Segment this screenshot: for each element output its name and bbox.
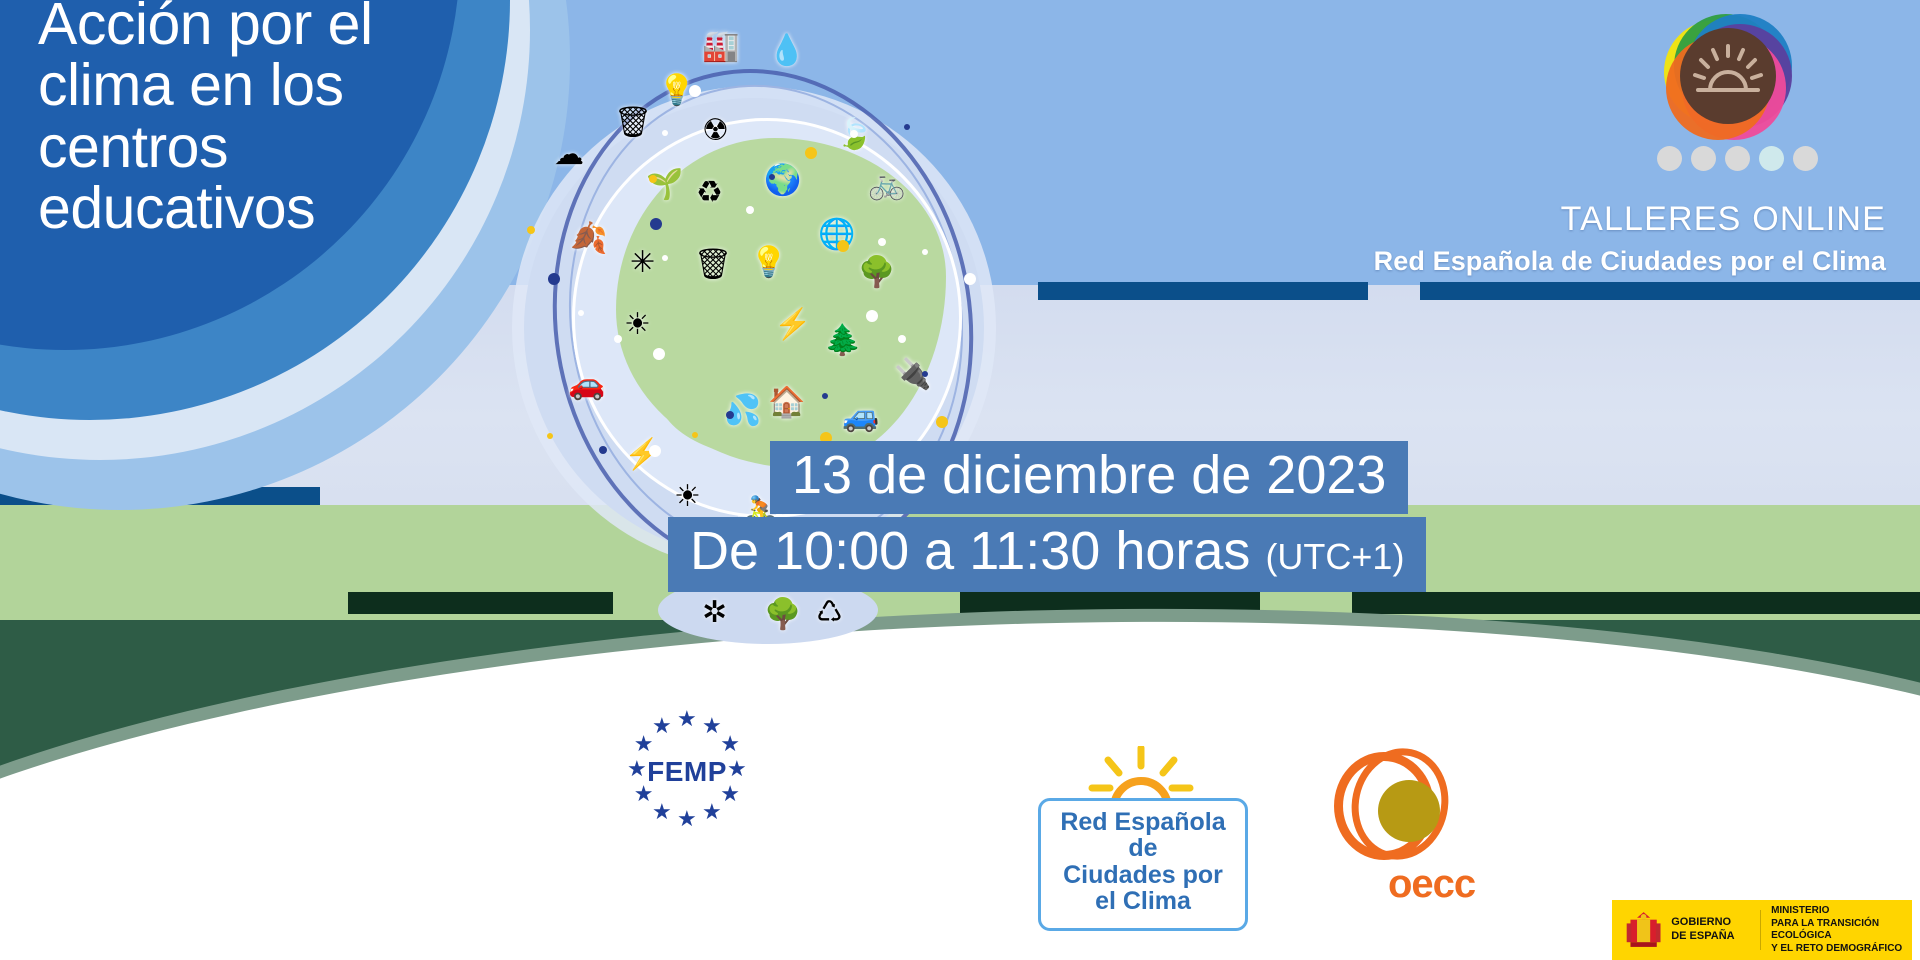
factory-icon: 🏭 <box>702 32 739 62</box>
decor-dot <box>548 273 560 285</box>
red-espanola-textbox: Red Española de Ciudades por el Clima <box>1038 798 1248 931</box>
decor-dot <box>649 445 661 457</box>
wind-turbine-icon: ✳ <box>630 248 655 278</box>
organization-name: Red Española de Ciudades por el Clima <box>1026 246 1886 277</box>
bush-icon: 🌳 <box>764 600 801 630</box>
decor-dot <box>547 433 553 439</box>
femp-logo: ★★★★★★★★★★★★ FEMP <box>624 706 750 832</box>
spain-coat-of-arms-icon <box>1622 907 1665 953</box>
sun-icon: ☀ <box>624 310 651 340</box>
decor-dot <box>898 335 906 343</box>
cloud-icon: ☁ <box>554 140 584 170</box>
time-banner: De 10:00 a 11:30 horas (UTC+1) <box>668 517 1426 592</box>
logo-dot-5 <box>1793 146 1818 171</box>
house-icon: 🏠 <box>768 388 805 418</box>
logo-dot-1 <box>1657 146 1682 171</box>
decor-dot <box>726 411 734 419</box>
dark-leaf-icon: 🍂 <box>570 224 607 254</box>
car-icon: 🚙 <box>842 402 879 432</box>
femp-star: ★ <box>652 715 672 737</box>
ministerio-text: MINISTERIO PARA LA TRANSICIÓN ECOLÓGICA … <box>1771 905 1912 955</box>
accent-bar-right-one <box>1038 282 1368 300</box>
logo-dot-2 <box>1691 146 1716 171</box>
decor-dot <box>866 310 878 322</box>
decor-dot <box>746 206 754 214</box>
climate-network-logo <box>1664 14 1792 142</box>
femp-star: ★ <box>702 715 722 737</box>
page-title: Acción por el clima en los centros educa… <box>38 0 448 239</box>
decor-dot <box>837 240 849 252</box>
gobierno-line2: DE ESPAÑA <box>1671 930 1750 944</box>
femp-star: ★ <box>634 733 654 755</box>
oecc-wordmark: oecc <box>1388 862 1475 907</box>
tree-icon: 🌳 <box>858 258 895 288</box>
sunrise-icon <box>1680 28 1776 124</box>
femp-star: ★ <box>677 808 697 830</box>
gobierno-de-espana-logo: GOBIERNO DE ESPAÑA MINISTERIO PARA LA TR… <box>1612 900 1912 960</box>
electric-car-icon: 🚗 <box>568 370 605 400</box>
recycling-icon: ♺ <box>816 598 843 628</box>
recycle-icon: ♻ <box>696 178 723 208</box>
decor-dot <box>904 124 910 130</box>
decor-dot <box>599 446 607 454</box>
femp-star: ★ <box>720 733 740 755</box>
oecc-logo: oecc <box>1330 742 1570 960</box>
gobierno-line1: GOBIERNO <box>1671 916 1750 930</box>
bicycle-icon: 🚲 <box>868 170 905 200</box>
logo-dot-4 <box>1759 146 1784 171</box>
pine-trees-icon: 🌲 <box>824 326 861 356</box>
decor-dot <box>689 85 701 97</box>
date-banner: 13 de diciembre de 2023 <box>770 441 1408 514</box>
decor-dot <box>649 175 657 183</box>
lightning-icon: ⚡ <box>774 310 811 340</box>
red-espanola-ciudades-clima-logo: Red Española de Ciudades por el Clima <box>1038 740 1248 960</box>
timezone-text: (UTC+1) <box>1265 536 1404 577</box>
sunburst-icon: ☀ <box>674 482 701 512</box>
gobierno-divider <box>1760 910 1761 950</box>
ministerio-line2: PARA LA TRANSICIÓN ECOLÓGICA <box>1771 918 1912 943</box>
accent-bar-right-two <box>1420 282 1920 300</box>
time-text: De 10:00 a 11:30 horas <box>690 521 1250 581</box>
decor-dot <box>650 218 662 230</box>
trash-bin-icon: 🗑 <box>614 108 652 138</box>
water-drop-icon: 💧 <box>768 36 805 66</box>
femp-star: ★ <box>677 708 697 730</box>
kicker-text: TALLERES ONLINE <box>1186 200 1886 239</box>
gobierno-text: GOBIERNO DE ESPAÑA <box>1671 916 1750 944</box>
femp-star: ★ <box>652 801 672 823</box>
earth-icon: 🌍 <box>764 166 801 196</box>
waste-bin-icon: 🗑 <box>694 250 732 280</box>
decor-dot <box>662 130 668 136</box>
decor-dot <box>805 147 817 159</box>
decor-dot <box>578 310 584 316</box>
decor-dot <box>527 226 535 234</box>
logo-dot-3 <box>1725 146 1750 171</box>
red-espanola-line2: Ciudades por el Clima <box>1051 862 1235 915</box>
fan-icon: ✲ <box>702 598 727 628</box>
ministerio-line1: MINISTERIO <box>1771 905 1912 918</box>
femp-star: ★ <box>702 801 722 823</box>
decor-dot <box>922 249 928 255</box>
accent-bar-dark-three <box>1352 592 1920 614</box>
decor-dot <box>922 371 928 377</box>
oecc-center-dot <box>1378 780 1440 842</box>
ministerio-line3: Y EL RETO DEMOGRÁFICO <box>1771 943 1912 956</box>
radiation-icon: ☢ <box>702 116 729 146</box>
poster-canvas: Acción por el clima en los centros educa… <box>0 0 1920 960</box>
femp-wordmark: FEMP <box>624 756 750 788</box>
logo-dots-row <box>1657 146 1818 171</box>
eco-bulb-icon: 💡 <box>750 248 787 278</box>
red-espanola-line1: Red Española de <box>1051 809 1235 862</box>
